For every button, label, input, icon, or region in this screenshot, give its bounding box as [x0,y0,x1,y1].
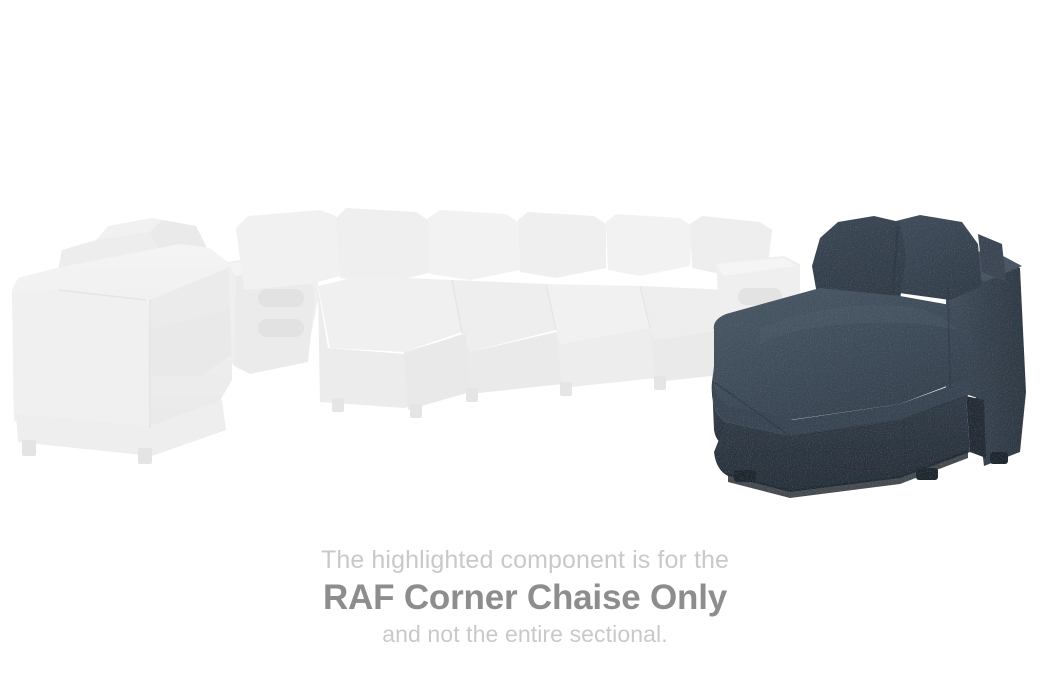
chaise-foot-rear-right [990,452,1008,464]
chaise-foot-front-right [916,468,938,480]
sectional-sofa-illustration [0,0,1050,520]
chaise-foot-front-left [734,470,756,482]
caption-block: The highlighted component is for the RAF… [0,548,1050,646]
caption-line-2-part-name: RAF Corner Chaise Only [0,580,1050,623]
product-image-canvas: The highlighted component is for the RAF… [0,0,1050,700]
caption-line-3: and not the entire sectional. [0,623,1050,646]
ghosted-sectional-group [12,208,800,464]
ghost-laf-loveseat [12,218,248,464]
ghost-armless-left-run [236,208,772,418]
caption-line-1: The highlighted component is for the [0,548,1050,580]
